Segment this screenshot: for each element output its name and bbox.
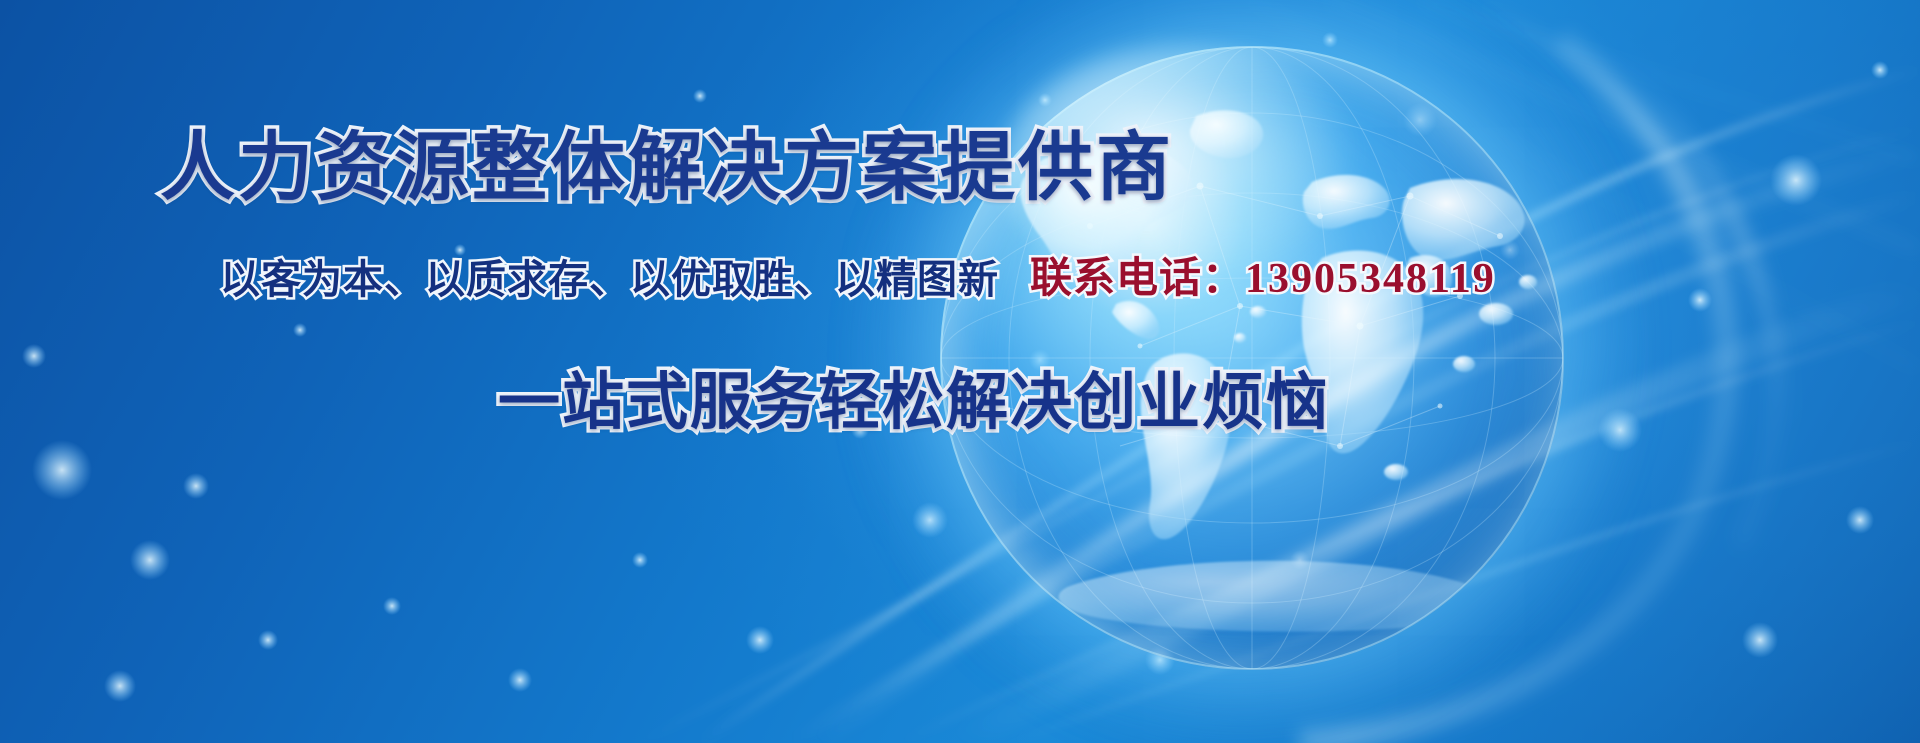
contact-label: 联系电话： bbox=[1030, 256, 1245, 302]
page-title: 人力资源整体解决方案提供商 bbox=[160, 130, 1174, 205]
promotional-banner: 人力资源整体解决方案提供商 以客为本、以质求存、以优取胜、以精图新 联系电话：1… bbox=[0, 0, 1920, 743]
service-tagline: 一站式服务轻松解决创业烦恼 bbox=[498, 372, 1330, 434]
contact-info: 联系电话：13905348119 bbox=[1030, 258, 1496, 300]
contact-phone-number[interactable]: 13905348119 bbox=[1245, 256, 1496, 302]
company-slogan: 以客为本、以质求存、以优取胜、以精图新 bbox=[220, 260, 999, 300]
